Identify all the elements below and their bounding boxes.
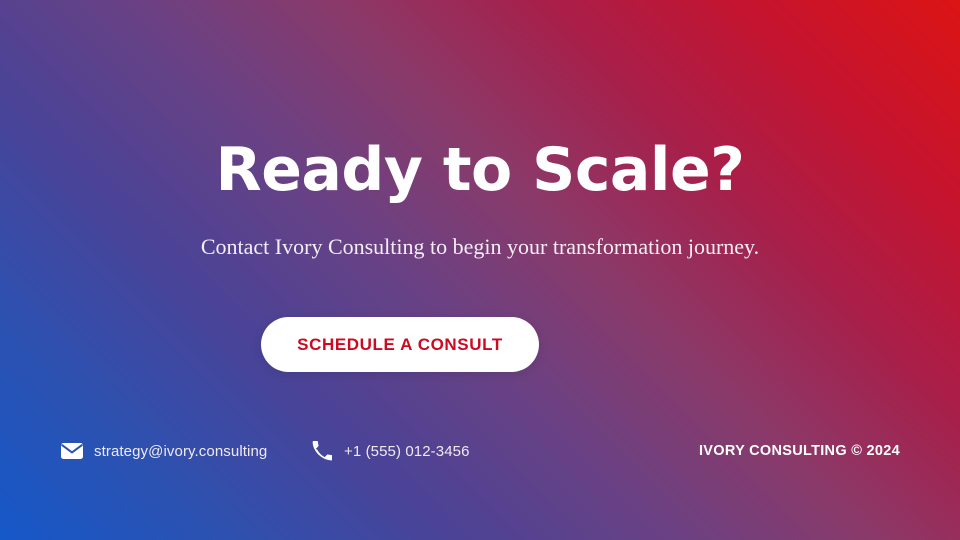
footer: strategy@ivory.consulting +1 (555) 012-3… bbox=[60, 434, 900, 468]
contact-phone[interactable]: +1 (555) 012-3456 bbox=[310, 434, 470, 468]
envelope-icon bbox=[60, 439, 84, 463]
copyright-text: IVORY CONSULTING © 2024 bbox=[699, 434, 900, 468]
phone-icon bbox=[310, 439, 334, 463]
contact-email-text: strategy@ivory.consulting bbox=[94, 443, 267, 460]
schedule-consult-button-label: SCHEDULE A CONSULT bbox=[297, 335, 503, 355]
page-title: Ready to Scale? bbox=[0, 131, 960, 209]
contact-email[interactable]: strategy@ivory.consulting bbox=[60, 434, 267, 468]
cta-content: Ready to Scale? Contact Ivory Consulting… bbox=[0, 0, 960, 540]
schedule-consult-button[interactable]: SCHEDULE A CONSULT bbox=[261, 317, 539, 372]
cta-section: Ready to Scale? Contact Ivory Consulting… bbox=[0, 0, 960, 540]
contact-phone-text: +1 (555) 012-3456 bbox=[344, 443, 470, 460]
page-subtitle: Contact Ivory Consulting to begin your t… bbox=[200, 234, 760, 259]
